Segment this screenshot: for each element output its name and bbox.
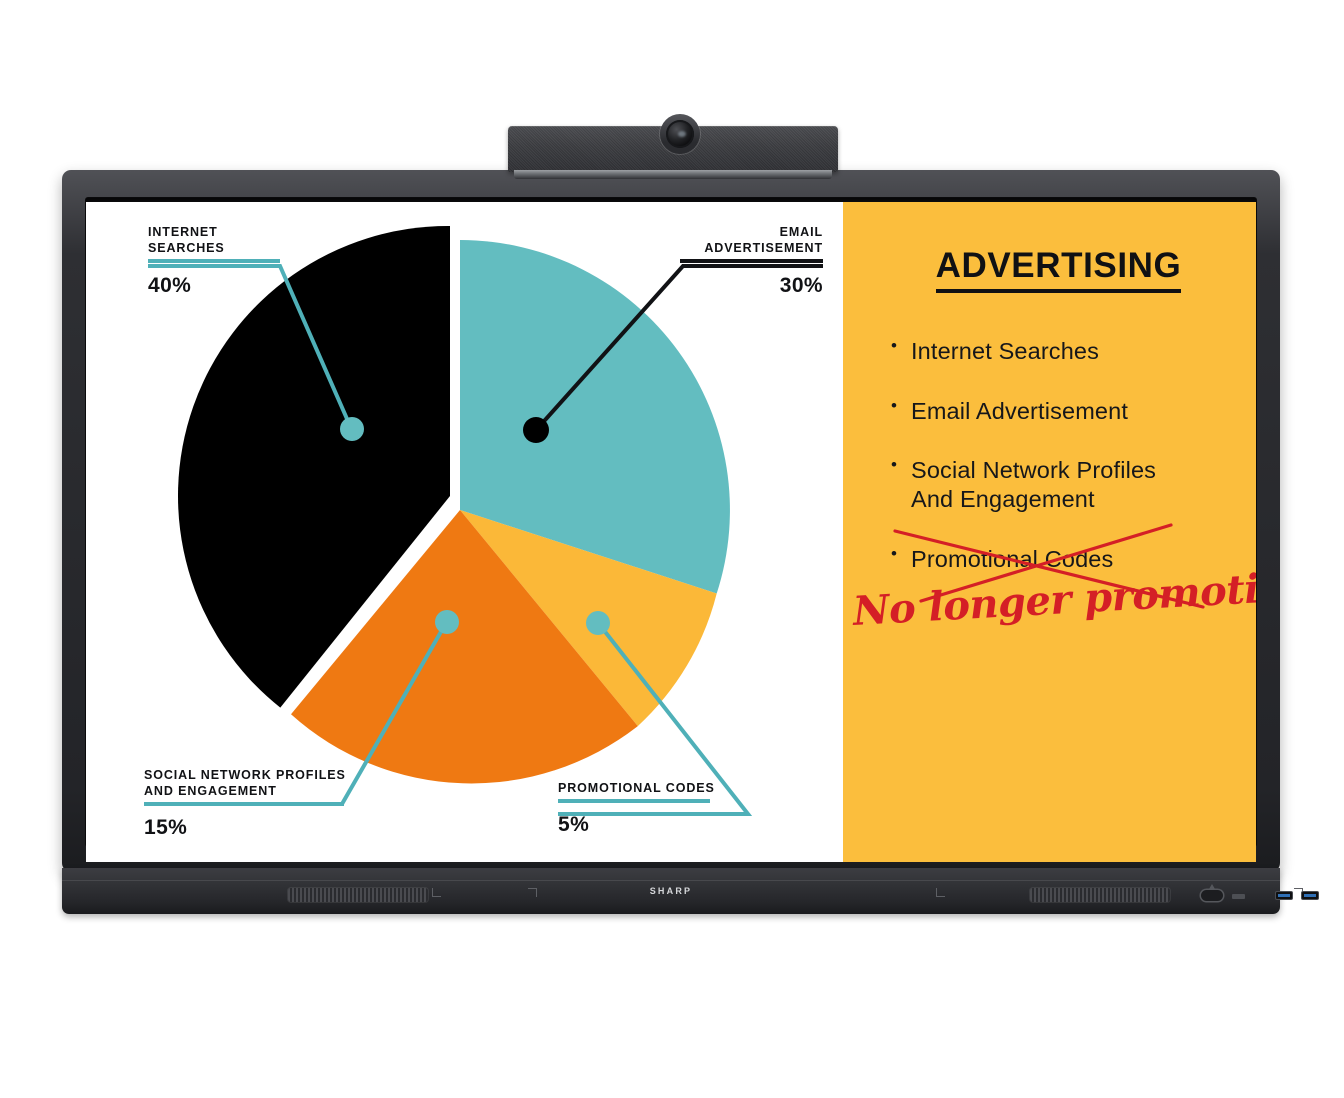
list-item-label-line1: Social Network Profiles [911,457,1156,483]
soundbar-mount-foot [514,170,832,179]
bezel-bracket-mark [528,888,537,897]
leader-dot-internet-searches [340,417,364,441]
pie-label-internet-searches-line2: SEARCHES [148,240,280,256]
brand-logo: SHARP [62,886,1280,896]
screenshot-root: INTERNET SEARCHES 40% EMAIL ADVERTISEMEN… [0,0,1344,1098]
pie-label-rule [558,799,710,803]
pie-label-social-network-line1: SOCIAL NETWORK PROFILES [144,767,346,783]
pie-label-internet-searches-line1: INTERNET [148,224,280,240]
pie-value-social-network: 15% [144,815,346,842]
usb-a-port-icon[interactable] [1302,892,1318,899]
list-item-social-network[interactable]: Social Network Profiles And Engagement [889,456,1214,513]
pie-label-rule [144,802,344,806]
notes-title-row: ADVERTISING [889,246,1214,293]
bezel-seam [62,880,1280,881]
pie-label-social-network-line2: AND ENGAGEMENT [144,783,346,799]
camera-lens [666,120,694,148]
pie-label-rule [148,259,280,263]
pie-chart-pane: INTERNET SEARCHES 40% EMAIL ADVERTISEMEN… [86,202,843,862]
pie-label-internet-searches: INTERNET SEARCHES 40% [148,224,280,300]
list-item-internet-searches[interactable]: Internet Searches [889,337,1214,366]
bezel-bracket-mark [936,888,945,897]
pie-label-promotional-codes-line1: PROMOTIONAL CODES [558,780,715,796]
pie-label-social-network: SOCIAL NETWORK PROFILES AND ENGAGEMENT 1… [144,767,346,842]
pie-chart-graphic [86,202,843,862]
list-item-label: Email Advertisement [911,398,1128,424]
pie-label-email-advertisement-line2: ADVERTISEMENT [680,240,823,256]
list-item-label: Promotional Codes [911,546,1113,572]
pie-value-email-advertisement: 30% [680,273,823,300]
list-item-label-line2: And Engagement [911,486,1095,512]
notes-title: ADVERTISING [936,246,1182,293]
handwritten-annotation: No longer promoting [852,565,1256,635]
pie-label-rule [680,259,823,263]
pie-label-email-advertisement: EMAIL ADVERTISEMENT 30% [680,224,823,300]
pie-label-email-advertisement-line1: EMAIL [680,224,823,240]
bezel-bracket-mark [432,888,441,897]
pie-value-internet-searches: 40% [148,273,280,300]
hdmi-port-icon[interactable] [1232,894,1245,899]
display-screen[interactable]: INTERNET SEARCHES 40% EMAIL ADVERTISEMEN… [86,202,1256,862]
advertising-notes-panel: ADVERTISING Internet Searches Email Adve… [843,202,1256,862]
advertising-channel-list: Internet Searches Email Advertisement So… [889,337,1214,573]
list-item-email-advertisement[interactable]: Email Advertisement [889,397,1214,426]
display-bottom-bezel: SHARP [62,868,1280,914]
leader-dot-email-advertisement [523,417,549,443]
pie-value-promotional-codes: 5% [558,812,715,839]
list-item-label: Internet Searches [911,338,1099,364]
camera-lens-glint [678,131,686,137]
list-item-promotional-codes[interactable]: Promotional Codes [889,545,1214,574]
usb-a-port-icon[interactable] [1276,892,1292,899]
leader-dot-promotional-codes [586,611,610,635]
leader-dot-social-network [435,610,459,634]
video-conference-camera-soundbar [508,126,838,178]
usb-c-port-icon[interactable] [1201,890,1223,901]
camera-icon [660,114,700,154]
pie-label-promotional-codes: PROMOTIONAL CODES 5% [558,780,715,839]
